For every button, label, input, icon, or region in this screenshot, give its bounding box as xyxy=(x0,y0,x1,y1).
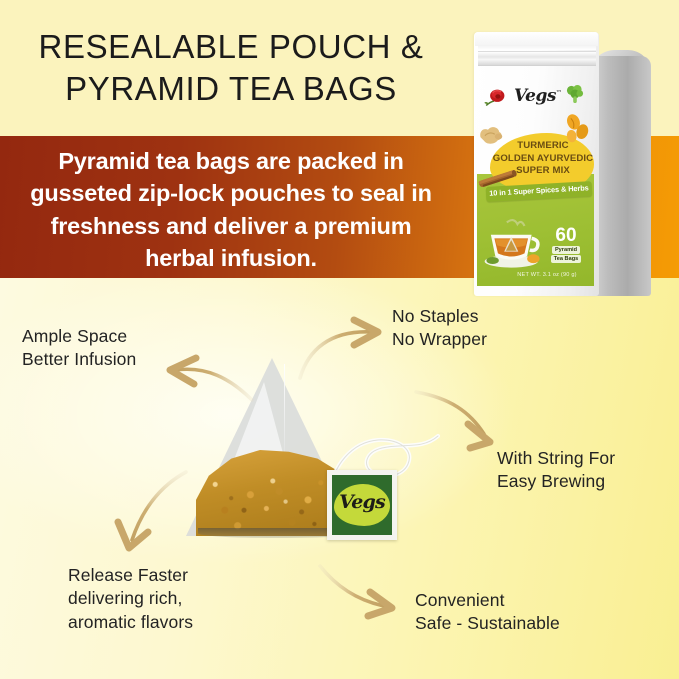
callout-with-string-line2: Easy Brewing xyxy=(497,471,605,491)
tea-bag-tag-brand: Vegs xyxy=(332,491,392,513)
pouch-top-seal xyxy=(475,32,598,46)
rose-icon xyxy=(480,86,508,112)
pouch-title-line2: GOLDEN AYURVEDIC xyxy=(493,153,593,164)
pouch-brand-name: Vegs xyxy=(514,86,556,106)
pouch-zip-upper xyxy=(478,45,596,50)
callout-ample-space-line1: Ample Space xyxy=(22,326,127,346)
callout-with-string: With String For Easy Brewing xyxy=(497,447,615,494)
tea-bag-tag: Vegs xyxy=(327,470,397,540)
tea-bag-tag-artwork: Vegs xyxy=(332,475,392,535)
trademark-symbol: ™ xyxy=(556,89,562,96)
callout-no-staples: No Staples No Wrapper xyxy=(392,305,487,352)
page-title: RESEALABLE POUCH &PYRAMID TEA BAGS xyxy=(0,26,462,110)
product-infographic: RESEALABLE POUCH &PYRAMID TEA BAGS Pyram… xyxy=(0,0,679,679)
pouch-bag-count: 60 xyxy=(544,226,588,245)
pouch-bag-count-label-line2: Tea Bags xyxy=(551,255,581,263)
callout-no-staples-line2: No Wrapper xyxy=(392,329,487,349)
callout-release-faster-line2: delivering rich, xyxy=(68,588,182,608)
callout-with-string-line1: With String For xyxy=(497,448,615,468)
description-banner-text: Pyramid tea bags are packed in gusseted … xyxy=(0,145,462,275)
callout-ample-space-line2: Better Infusion xyxy=(22,349,136,369)
callout-release-faster-line1: Release Faster xyxy=(68,565,188,585)
page-title-line2: PYRAMID TEA BAGS xyxy=(65,70,397,107)
pouch-ziplock-strip xyxy=(478,51,596,66)
callout-ample-space: Ample Space Better Infusion xyxy=(22,325,136,372)
pouch-brand-logo: Vegs™ xyxy=(514,86,570,110)
pouch-bag-count-label-line1: Pyramid xyxy=(552,246,580,254)
pouch-net-weight: NET WT. 3.1 oz (90 g) xyxy=(504,272,590,278)
callout-convenient: Convenient Safe - Sustainable xyxy=(415,589,560,636)
callout-no-staples-line1: No Staples xyxy=(392,306,479,326)
callout-convenient-line1: Convenient xyxy=(415,590,505,610)
page-title-line1: RESEALABLE POUCH & xyxy=(39,28,424,65)
product-pouch: Vegs™ TURMERIC GOLDEN AYURVEDIC SUPER MI… xyxy=(458,14,670,296)
pouch-bag-count-label: Pyramid Tea Bags xyxy=(544,246,588,264)
teacup-icon xyxy=(482,210,544,272)
pouch-feature-ribbon-text: 10 in 1 Super Spices & Herbs xyxy=(486,183,592,198)
callout-convenient-line2: Safe - Sustainable xyxy=(415,613,560,633)
pouch-product-title: TURMERIC GOLDEN AYURVEDIC SUPER MIX xyxy=(492,140,594,178)
pouch-title-line1: TURMERIC xyxy=(517,140,568,151)
callout-release-faster-line3: aromatic flavors xyxy=(68,612,193,632)
pouch-title-line3: SUPER MIX xyxy=(516,165,570,176)
callout-release-faster: Release Faster delivering rich, aromatic… xyxy=(68,564,193,634)
